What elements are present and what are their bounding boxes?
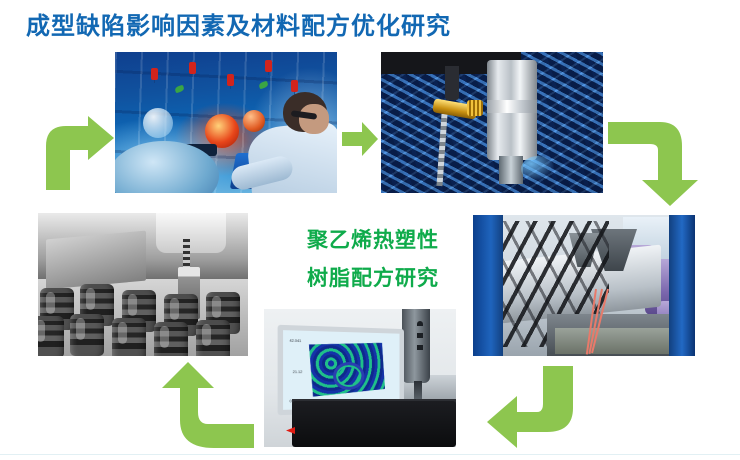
metrology-screen: 42.041 21.12 0.00 0.000 21.130 <box>283 330 399 410</box>
vials-photo-body <box>38 213 248 356</box>
cnc-machining-photo[interactable] <box>381 52 603 193</box>
lab-clamp <box>291 80 298 92</box>
caption-line-2: 树脂配方研究 <box>283 260 463 298</box>
cnc-cutting-tool <box>499 156 523 184</box>
vial-cap <box>70 314 104 356</box>
center-caption: 聚乙烯热塑性 树脂配方研究 <box>283 222 463 298</box>
lab-photo-body <box>115 52 337 193</box>
arrow-down-left <box>487 366 579 448</box>
cnc-coolant-jet <box>521 156 555 182</box>
metrology-base <box>292 401 456 447</box>
metrology-photo-body: 42.041 21.12 0.00 0.000 21.130 <box>264 309 456 447</box>
page-title: 成型缺陷影响因素及材料配方优化研究 <box>26 6 451 41</box>
vial-cap-array <box>38 270 248 356</box>
bottom-divider <box>0 454 740 455</box>
metrology-red-indicator <box>286 427 295 434</box>
caption-line-1: 聚乙烯热塑性 <box>283 222 463 260</box>
extruder-frame-left <box>473 215 503 356</box>
autosampler-head <box>156 213 226 253</box>
screen-axis-max: 42.041 <box>290 339 302 343</box>
screen-axis-mid: 21.12 <box>293 370 303 374</box>
arrow-right-up <box>158 362 254 448</box>
arrow-up-right <box>40 116 116 190</box>
arrow-right-down <box>608 118 704 206</box>
metrology-arm <box>402 309 430 383</box>
cnc-shaft <box>445 66 459 100</box>
arrow-right <box>342 122 378 156</box>
vial-cap <box>196 320 230 356</box>
cnc-nozzle-collar <box>467 100 483 116</box>
lab-clamp <box>265 60 272 72</box>
lab-clamp <box>227 74 234 86</box>
lab-heated-flask <box>205 114 239 148</box>
lab-clamp <box>151 68 158 80</box>
chemistry-lab-photo[interactable] <box>115 52 337 193</box>
vial-cap <box>112 318 146 356</box>
vial-cap <box>154 322 188 356</box>
vial-cap <box>38 316 64 356</box>
cnc-photo-body <box>381 52 603 193</box>
lab-clamp <box>189 62 196 74</box>
lab-flask <box>143 108 173 138</box>
cnc-spindle-ring <box>487 100 537 113</box>
metrology-arm-bolts <box>417 321 423 357</box>
extruder-water-surface <box>555 328 675 354</box>
extruder-frame-right <box>669 215 695 356</box>
slide-canvas: 成型缺陷影响因素及材料配方优化研究 <box>0 0 740 460</box>
lab-flask <box>243 110 265 132</box>
extruder-photo-body <box>473 215 695 356</box>
autosampler-vials-photo[interactable] <box>38 213 248 356</box>
metrology-microscope-photo[interactable]: 42.041 21.12 0.00 0.000 21.130 <box>264 309 456 447</box>
extrusion-line-photo[interactable] <box>473 215 695 356</box>
